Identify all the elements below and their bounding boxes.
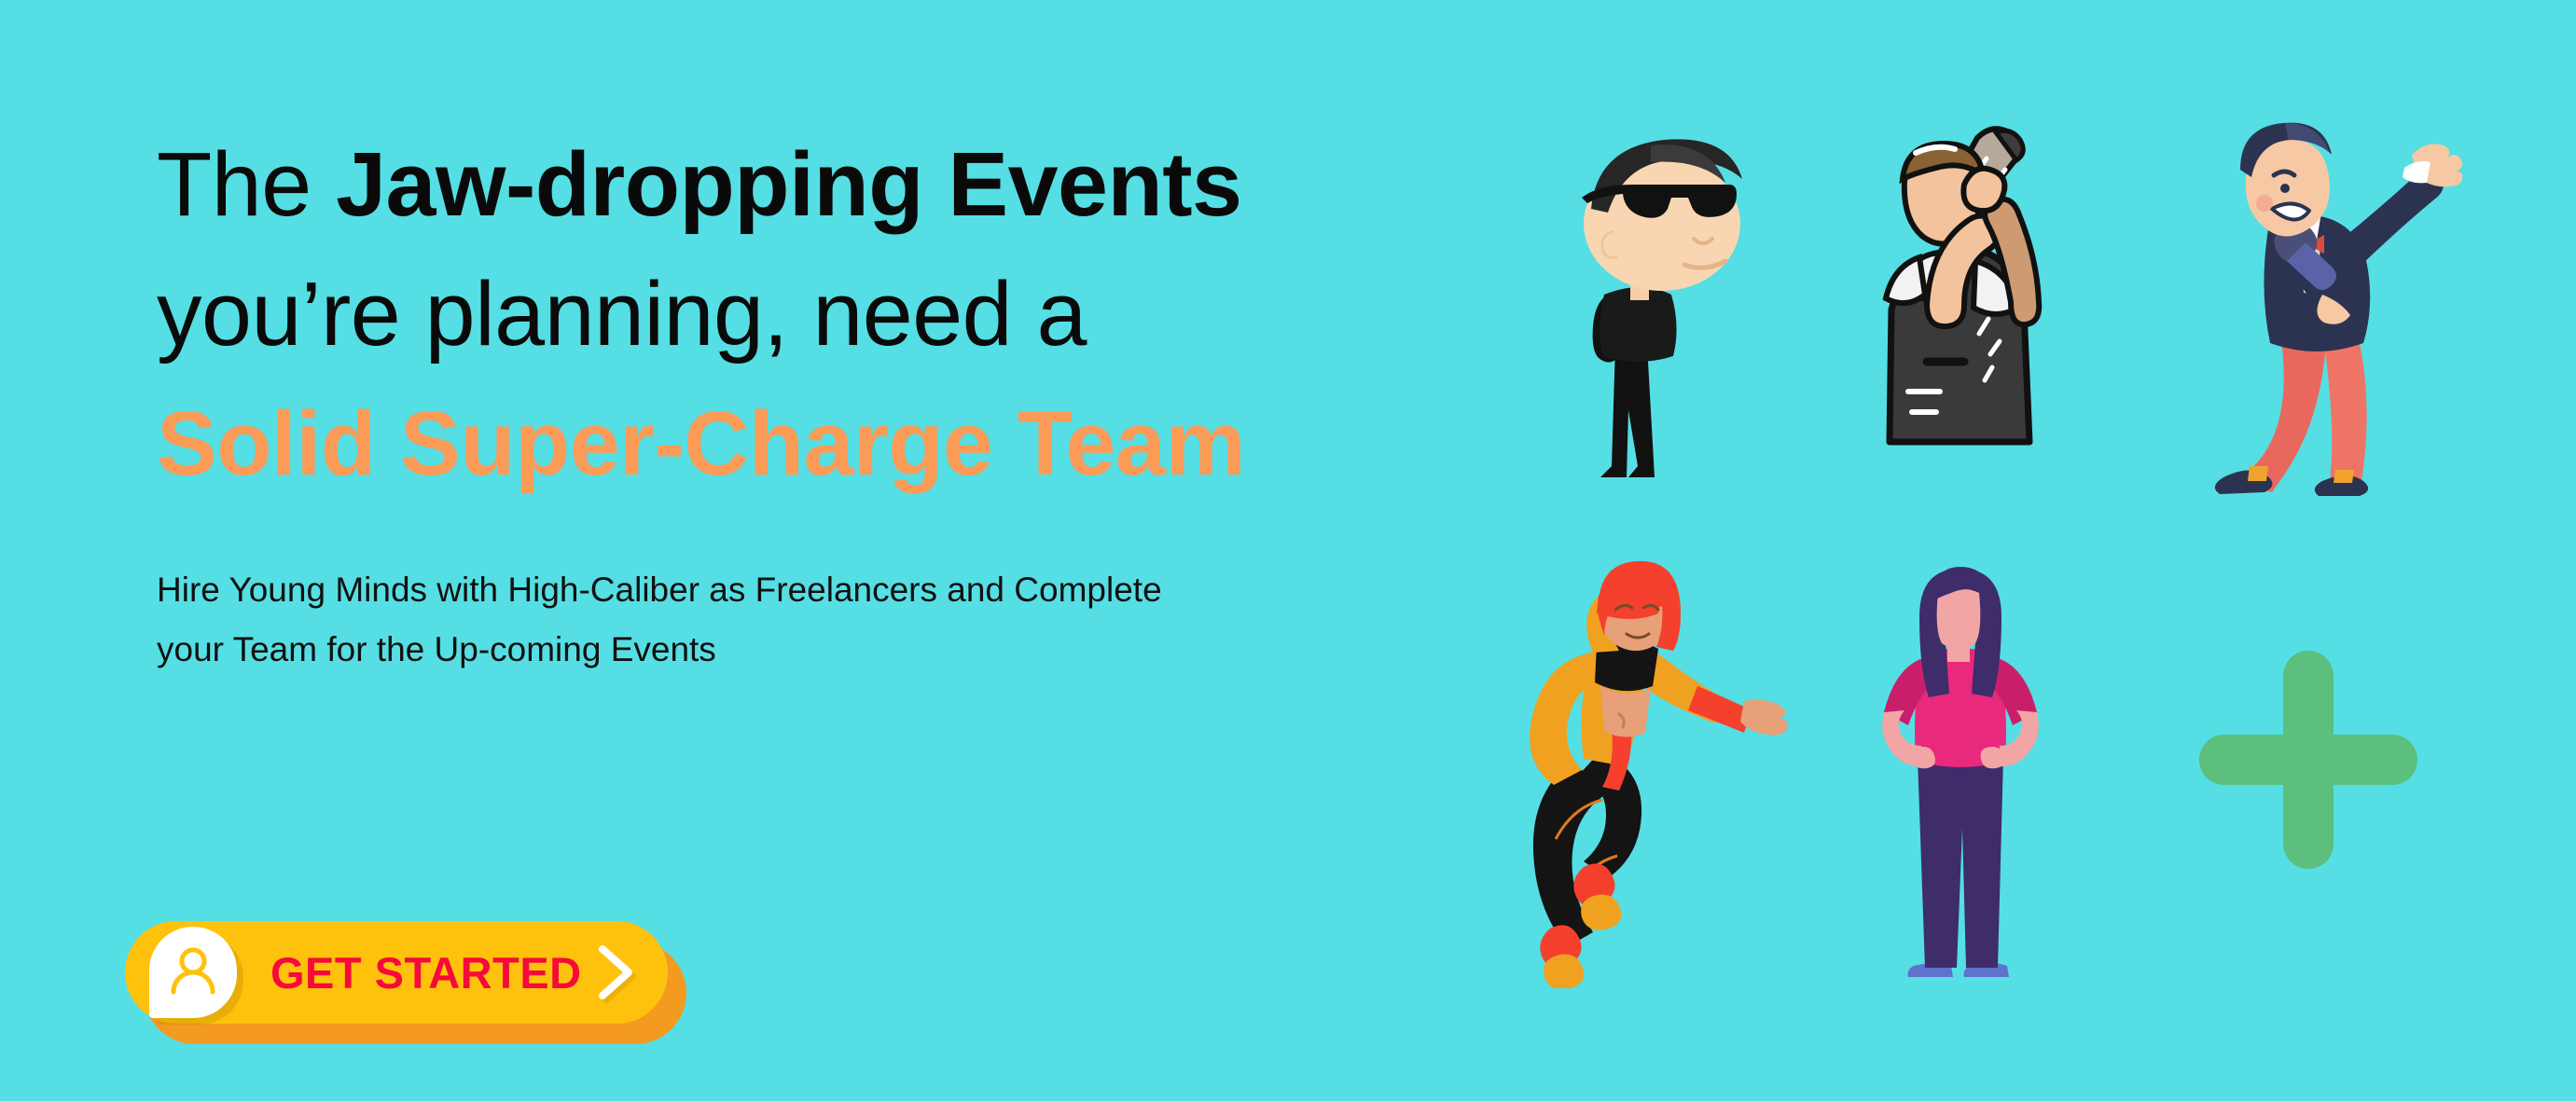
illustration-grid (1492, 93, 2574, 1101)
person-icon (168, 945, 218, 999)
singer-illustration (2182, 112, 2462, 503)
add-member-plus-icon-wrapper[interactable] (2182, 634, 2434, 886)
chevron-right-icon (595, 943, 638, 1001)
hero-copy-block: The Jaw-dropping Events you’re planning,… (157, 119, 1276, 680)
hero-banner: The Jaw-dropping Events you’re planning,… (0, 0, 2576, 1101)
headline-accent-phrase: Solid Super-Charge Team (157, 392, 1245, 494)
hero-subcopy: Hire Young Minds with High-Caliber as Fr… (157, 508, 1211, 680)
cta-label: GET STARTED (270, 947, 582, 998)
headline-bold-phrase: Jaw-dropping Events (336, 133, 1241, 235)
headline-part-1: The (157, 133, 336, 235)
bartender-illustration (1837, 112, 2080, 503)
bouncer-illustration (1511, 112, 1772, 503)
woman-illustration (1865, 559, 2052, 988)
person-badge (149, 927, 237, 1018)
cta-button-wrapper: GET STARTED (125, 921, 703, 1061)
plus-icon[interactable] (2182, 634, 2434, 886)
headline-part-3: you’re planning, need a (157, 263, 1087, 365)
get-started-button[interactable]: GET STARTED (125, 921, 668, 1024)
dancer-illustration (1511, 559, 1791, 988)
page-title: The Jaw-dropping Events you’re planning,… (157, 119, 1276, 508)
